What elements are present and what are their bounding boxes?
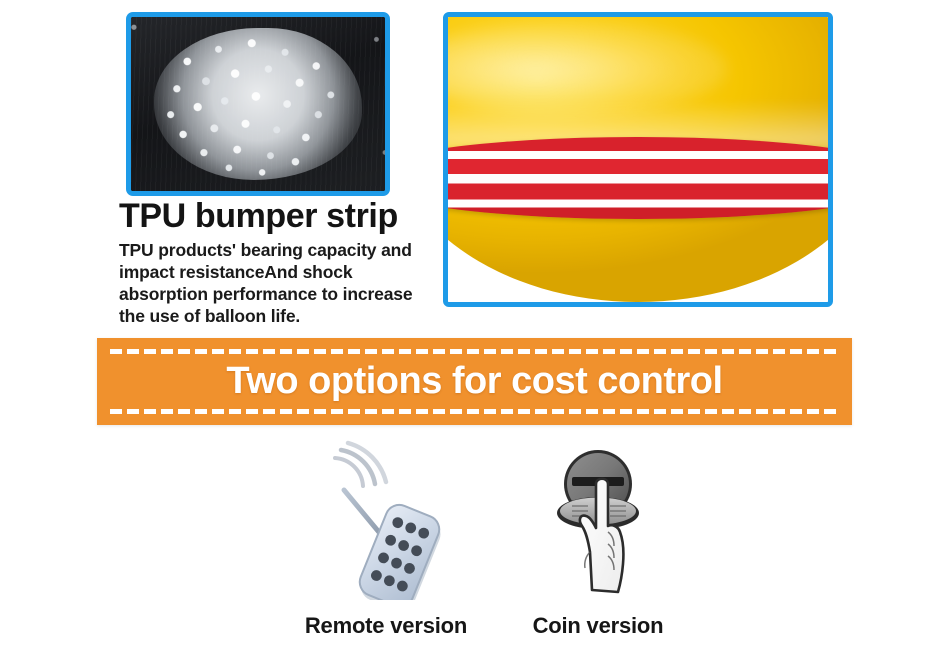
option-coin-label: Coin version [498, 613, 698, 639]
option-remote-label: Remote version [286, 613, 486, 639]
feature-description: TPU products' bearing capacity and impac… [119, 239, 431, 327]
option-coin-version: Coin version [498, 440, 698, 639]
product-feature-panel: TPU bumper strip TPU products' bearing c… [0, 0, 950, 665]
pellets-granules [154, 28, 362, 180]
bumper-red-white-strip [448, 137, 828, 220]
bumper-ball-photo [443, 12, 833, 307]
bumper-yellow-surface [448, 17, 828, 302]
tpu-pellets-photo [126, 12, 390, 196]
coin-icon-wrap [498, 440, 698, 600]
cost-control-banner: Two options for cost control [97, 338, 852, 425]
remote-control-icon [321, 440, 451, 600]
feature-text-block: TPU bumper strip TPU products' bearing c… [119, 198, 431, 327]
pellets-pile [154, 28, 362, 180]
banner-dashed-line-bottom [110, 409, 839, 414]
banner-dashed-line-top [110, 349, 839, 354]
tpu-pellets-image [131, 17, 385, 191]
banner-headline: Two options for cost control [226, 360, 722, 403]
option-remote-version: Remote version [286, 440, 486, 639]
bumper-ball-image [448, 17, 828, 302]
remote-icon-wrap [286, 440, 486, 600]
feature-headline: TPU bumper strip [119, 198, 431, 234]
coin-insert-hand-icon [538, 440, 658, 600]
